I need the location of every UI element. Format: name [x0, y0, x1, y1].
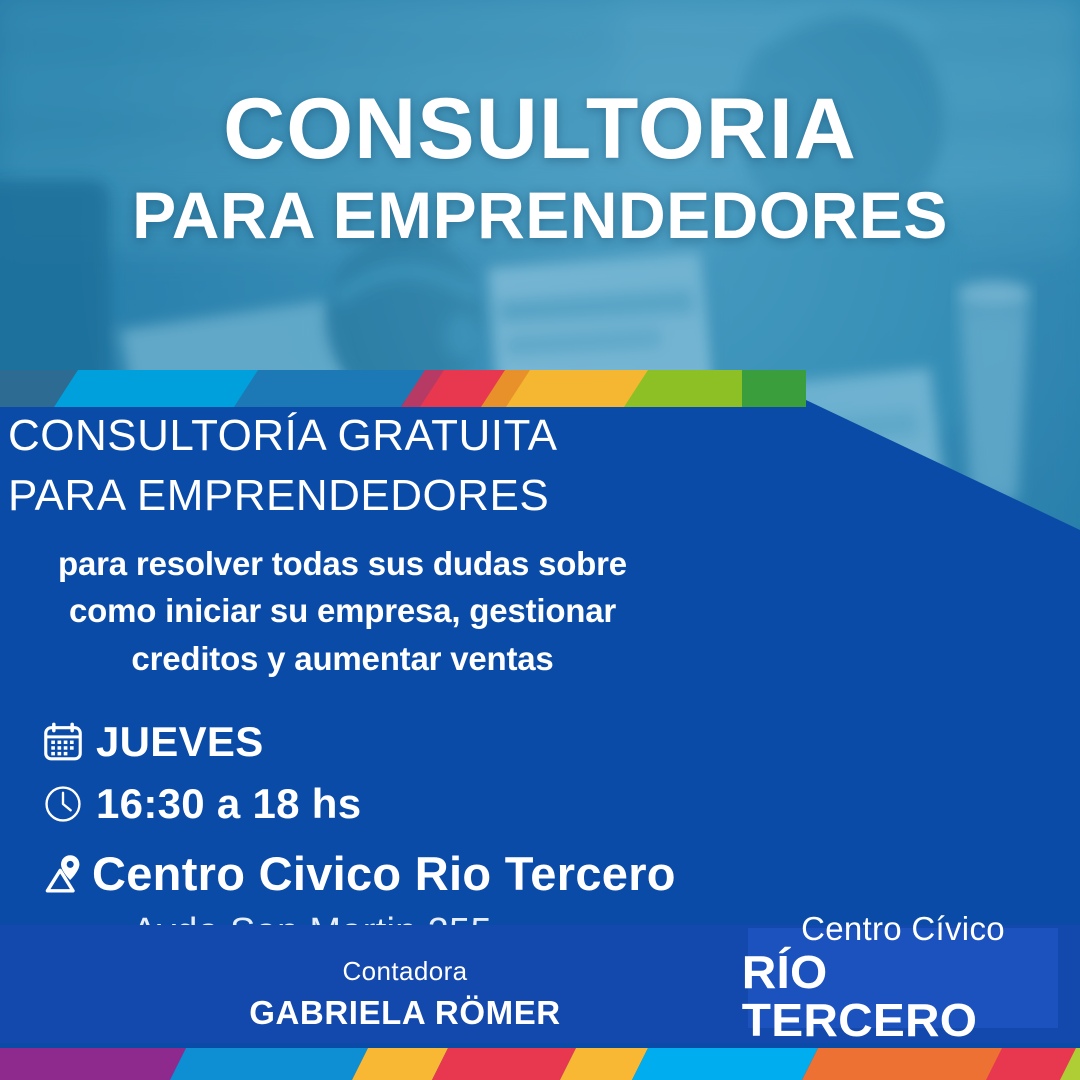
subtitle-line-2: PARA EMPRENDEDORES: [8, 462, 1080, 522]
clock-icon: [40, 781, 86, 827]
panel-content: CONSULTORÍA GRATUITA PARA EMPRENDEDORES …: [0, 400, 1080, 954]
speaker-role: Contadora: [0, 955, 810, 989]
promotional-poster: CONSULTORIA PARA EMPRENDEDORES: [0, 0, 1080, 1080]
description-line-3: creditos y aumentar ventas: [0, 635, 685, 683]
description-line-1: para resolver todas sus dudas sobre: [0, 540, 685, 588]
event-day-row: JUEVES: [40, 718, 1080, 766]
subtitle-line-1: CONSULTORÍA GRATUITA: [8, 400, 1080, 462]
description-line-2: como iniciar su empresa, gestionar: [0, 587, 685, 635]
event-time-label: 16:30 a 18 hs: [96, 780, 361, 828]
logo-top-text: Centro Cívico: [801, 911, 1005, 948]
event-day-label: JUEVES: [96, 718, 264, 766]
logo-bottom-text: RÍO TERCERO: [742, 948, 1064, 1045]
calendar-icon: [40, 719, 86, 765]
speaker-credit: Contadora GABRIELA RÖMER: [0, 955, 810, 1037]
event-venue-row: Centro Civico Rio Tercero: [40, 846, 1080, 901]
organization-logo: Centro Cívico RÍO TERCERO: [748, 928, 1058, 1028]
panel-description: para resolver todas sus dudas sobre como…: [0, 540, 1080, 683]
event-time-row: 16:30 a 18 hs: [40, 780, 1080, 828]
event-venue-label: Centro Civico Rio Tercero: [92, 846, 676, 901]
decorative-color-stripe-bottom: [0, 1043, 1080, 1080]
location-pin-icon: [40, 849, 90, 899]
panel-subtitle: CONSULTORÍA GRATUITA PARA EMPRENDEDORES: [0, 400, 1080, 522]
speaker-name: GABRIELA RÖMER: [0, 989, 810, 1037]
